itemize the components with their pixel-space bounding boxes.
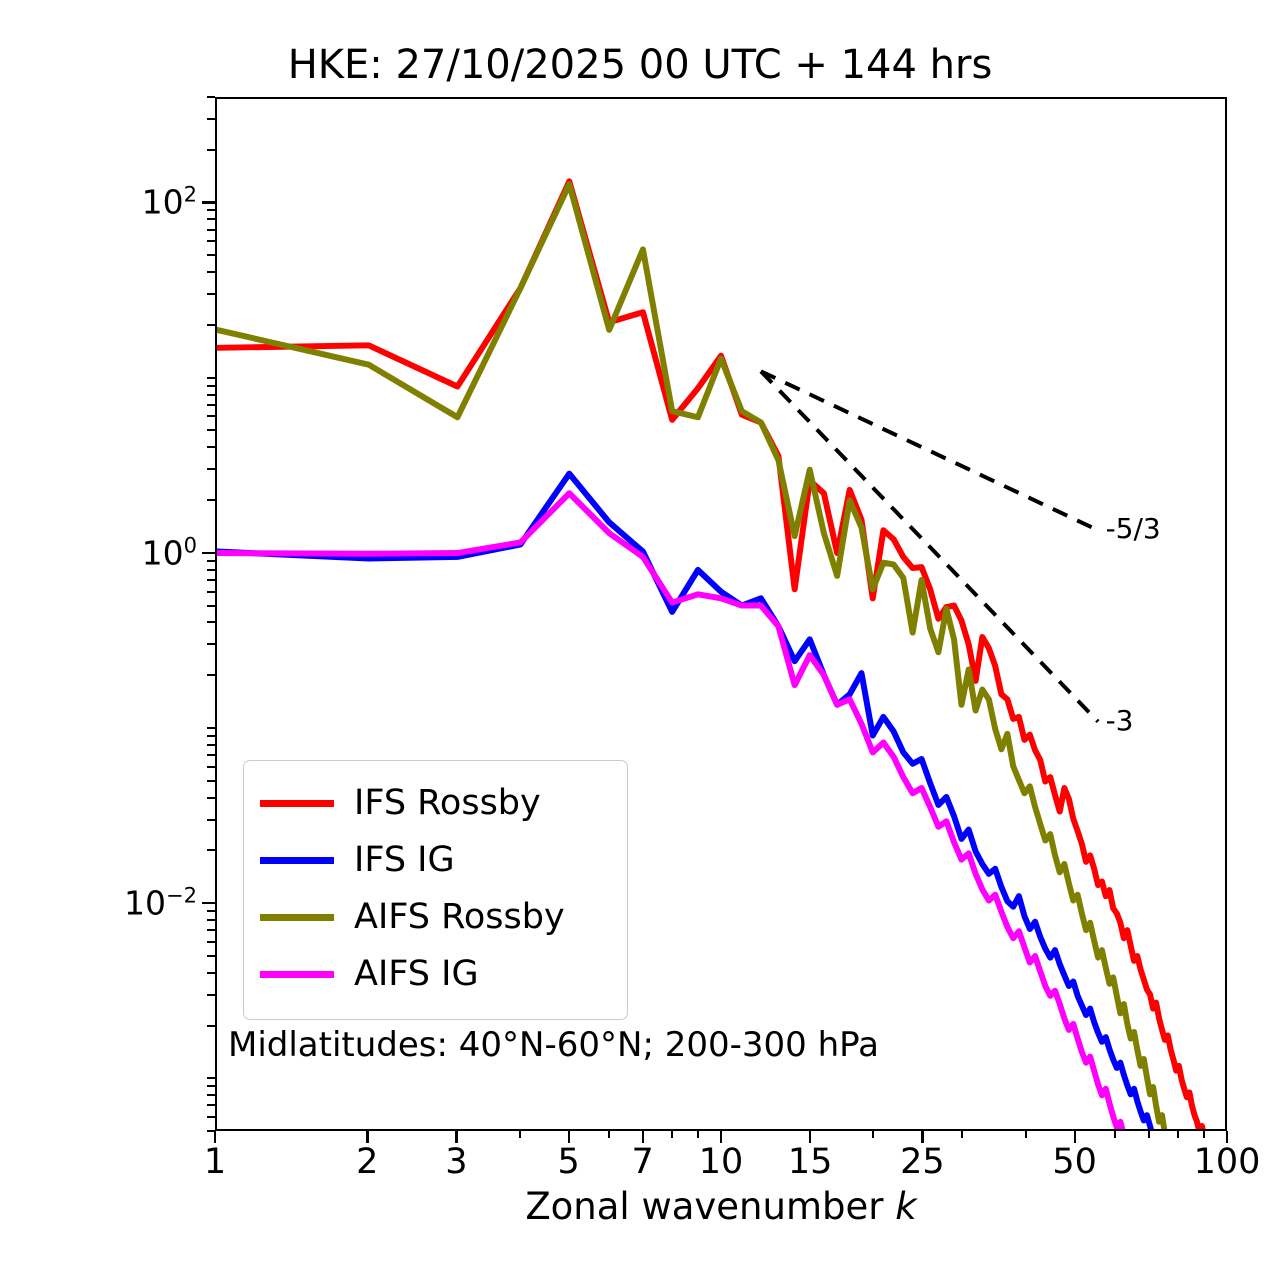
x-tick-label: 25 bbox=[900, 1142, 945, 1182]
x-tick-label: 7 bbox=[631, 1142, 653, 1182]
y-minor-tick-mark bbox=[207, 118, 215, 120]
x-tick-label: 100 bbox=[1194, 1142, 1261, 1182]
y-minor-tick-mark bbox=[207, 552, 215, 554]
y-minor-tick-mark bbox=[207, 972, 215, 974]
y-minor-tick-mark bbox=[207, 902, 215, 904]
x-tick-mark bbox=[809, 1131, 811, 1143]
y-minor-tick-mark bbox=[207, 994, 215, 996]
y-minor-tick-mark bbox=[207, 394, 215, 396]
x-minor-tick-mark bbox=[568, 1131, 570, 1138]
y-minor-tick-mark bbox=[207, 735, 215, 737]
legend: IFS Rossby IFS IG AIFS Rossby AIFS IG bbox=[243, 760, 628, 1020]
y-minor-tick-mark bbox=[207, 579, 215, 581]
legend-label: IFS IG bbox=[354, 843, 455, 878]
x-tick-label: 5 bbox=[558, 1142, 580, 1182]
y-tick-label: 102 bbox=[67, 183, 197, 222]
y-minor-tick-mark bbox=[207, 429, 215, 431]
y-minor-tick-mark bbox=[207, 415, 215, 417]
y-minor-tick-mark bbox=[207, 271, 215, 273]
figure-canvas: HKE: 27/10/2025 00 UTC + 144 hrs 1021001… bbox=[0, 0, 1280, 1288]
y-minor-tick-mark bbox=[207, 468, 215, 470]
x-tick-label: 1 bbox=[204, 1142, 226, 1182]
x-axis-label-symbol: k bbox=[895, 1185, 916, 1228]
y-tick-exponent: −2 bbox=[166, 884, 197, 908]
y-tick-exponent: 0 bbox=[184, 533, 197, 557]
x-minor-tick-mark bbox=[519, 1131, 521, 1138]
y-minor-tick-mark bbox=[207, 1094, 215, 1096]
y-tick-base: 10 bbox=[142, 533, 184, 572]
y-minor-tick-mark bbox=[207, 941, 215, 943]
y-minor-tick-mark bbox=[207, 149, 215, 151]
x-minor-tick-mark bbox=[720, 1131, 722, 1138]
x-minor-tick-mark bbox=[1148, 1131, 1150, 1138]
x-axis-label: Zonal wavenumber k bbox=[215, 1185, 1227, 1228]
y-minor-tick-mark bbox=[207, 385, 215, 387]
page-title: HKE: 27/10/2025 00 UTC + 144 hrs bbox=[0, 42, 1280, 88]
y-minor-tick-mark bbox=[207, 446, 215, 448]
y-minor-tick-mark bbox=[207, 209, 215, 211]
y-minor-tick-mark bbox=[207, 955, 215, 957]
y-minor-tick-mark bbox=[207, 569, 215, 571]
x-minor-tick-mark bbox=[642, 1131, 644, 1138]
x-minor-tick-mark bbox=[872, 1131, 874, 1138]
y-minor-tick-mark bbox=[207, 621, 215, 623]
y-minor-tick-mark bbox=[207, 605, 215, 607]
y-minor-tick-mark bbox=[207, 1116, 215, 1118]
x-tick-label: 2 bbox=[356, 1142, 378, 1182]
reference-line--3 bbox=[761, 371, 1098, 721]
y-minor-tick-mark bbox=[207, 218, 215, 220]
y-minor-tick-mark bbox=[207, 201, 215, 203]
reference-lines-group bbox=[761, 371, 1098, 721]
x-minor-tick-mark bbox=[671, 1131, 673, 1138]
x-minor-tick-mark bbox=[1114, 1131, 1116, 1138]
y-minor-tick-mark bbox=[207, 754, 215, 756]
legend-label: AIFS Rossby bbox=[354, 900, 565, 935]
legend-color-swatch bbox=[260, 914, 334, 921]
y-tick-label: 100 bbox=[67, 533, 197, 572]
legend-color-swatch bbox=[260, 971, 334, 978]
legend-item-ifs-rossby[interactable]: IFS Rossby bbox=[260, 775, 611, 832]
y-minor-tick-mark bbox=[207, 727, 215, 729]
y-minor-tick-mark bbox=[207, 1077, 215, 1079]
x-minor-tick-mark bbox=[697, 1131, 699, 1138]
slope-label-five-thirds: -5/3 bbox=[1106, 512, 1161, 545]
y-minor-tick-mark bbox=[207, 766, 215, 768]
region-annotation: Midlatitudes: 40°N-60°N; 200-300 hPa bbox=[228, 1025, 879, 1065]
y-minor-tick-mark bbox=[207, 674, 215, 676]
y-minor-tick-mark bbox=[207, 1104, 215, 1106]
x-minor-tick-mark bbox=[1177, 1131, 1179, 1138]
y-minor-tick-mark bbox=[207, 324, 215, 326]
y-minor-tick-mark bbox=[207, 1085, 215, 1087]
reference-line--5-3 bbox=[761, 371, 1098, 530]
y-minor-tick-mark bbox=[207, 780, 215, 782]
x-tick-label: 15 bbox=[788, 1142, 833, 1182]
legend-color-swatch bbox=[260, 800, 334, 807]
x-minor-tick-mark bbox=[455, 1131, 457, 1138]
x-minor-tick-mark bbox=[1226, 1131, 1228, 1138]
y-minor-tick-mark bbox=[207, 819, 215, 821]
x-minor-tick-mark bbox=[214, 1131, 216, 1138]
y-minor-tick-mark bbox=[207, 591, 215, 593]
y-minor-tick-mark bbox=[207, 254, 215, 256]
y-tick-label: 10−2 bbox=[67, 884, 197, 923]
legend-label: AIFS IG bbox=[354, 957, 479, 992]
legend-item-aifs-rossby[interactable]: AIFS Rossby bbox=[260, 889, 611, 946]
y-minor-tick-mark bbox=[207, 229, 215, 231]
x-minor-tick-mark bbox=[1203, 1131, 1205, 1138]
y-minor-tick-mark bbox=[207, 377, 215, 379]
x-minor-tick-mark bbox=[1025, 1131, 1027, 1138]
y-minor-tick-mark bbox=[207, 499, 215, 501]
x-axis-label-text: Zonal wavenumber bbox=[525, 1185, 895, 1228]
y-minor-tick-mark bbox=[207, 919, 215, 921]
y-minor-tick-mark bbox=[207, 929, 215, 931]
y-minor-tick-mark bbox=[207, 910, 215, 912]
y-minor-tick-mark bbox=[207, 96, 215, 98]
y-minor-tick-mark bbox=[207, 1025, 215, 1027]
x-tick-label: 3 bbox=[445, 1142, 467, 1182]
x-tick-label: 10 bbox=[699, 1142, 744, 1182]
y-minor-tick-mark bbox=[207, 560, 215, 562]
y-minor-tick-mark bbox=[207, 404, 215, 406]
y-tick-exponent: 2 bbox=[184, 183, 197, 207]
y-minor-tick-mark bbox=[207, 744, 215, 746]
x-minor-tick-mark bbox=[961, 1131, 963, 1138]
y-minor-tick-mark bbox=[207, 797, 215, 799]
legend-item-aifs-ig[interactable]: AIFS IG bbox=[260, 946, 611, 1003]
x-minor-tick-mark bbox=[1074, 1131, 1076, 1138]
y-tick-base: 10 bbox=[142, 183, 184, 222]
slope-label-minus-three: -3 bbox=[1106, 704, 1134, 737]
x-tick-mark bbox=[921, 1131, 923, 1143]
legend-label: IFS Rossby bbox=[354, 786, 541, 821]
y-minor-tick-mark bbox=[207, 849, 215, 851]
legend-color-swatch bbox=[260, 857, 334, 864]
x-tick-label: 50 bbox=[1052, 1142, 1097, 1182]
y-minor-tick-mark bbox=[207, 293, 215, 295]
legend-item-ifs-ig[interactable]: IFS IG bbox=[260, 832, 611, 889]
y-minor-tick-mark bbox=[207, 240, 215, 242]
x-minor-tick-mark bbox=[366, 1131, 368, 1138]
x-minor-tick-mark bbox=[608, 1131, 610, 1138]
y-tick-base: 10 bbox=[124, 884, 166, 923]
y-minor-tick-mark bbox=[207, 643, 215, 645]
